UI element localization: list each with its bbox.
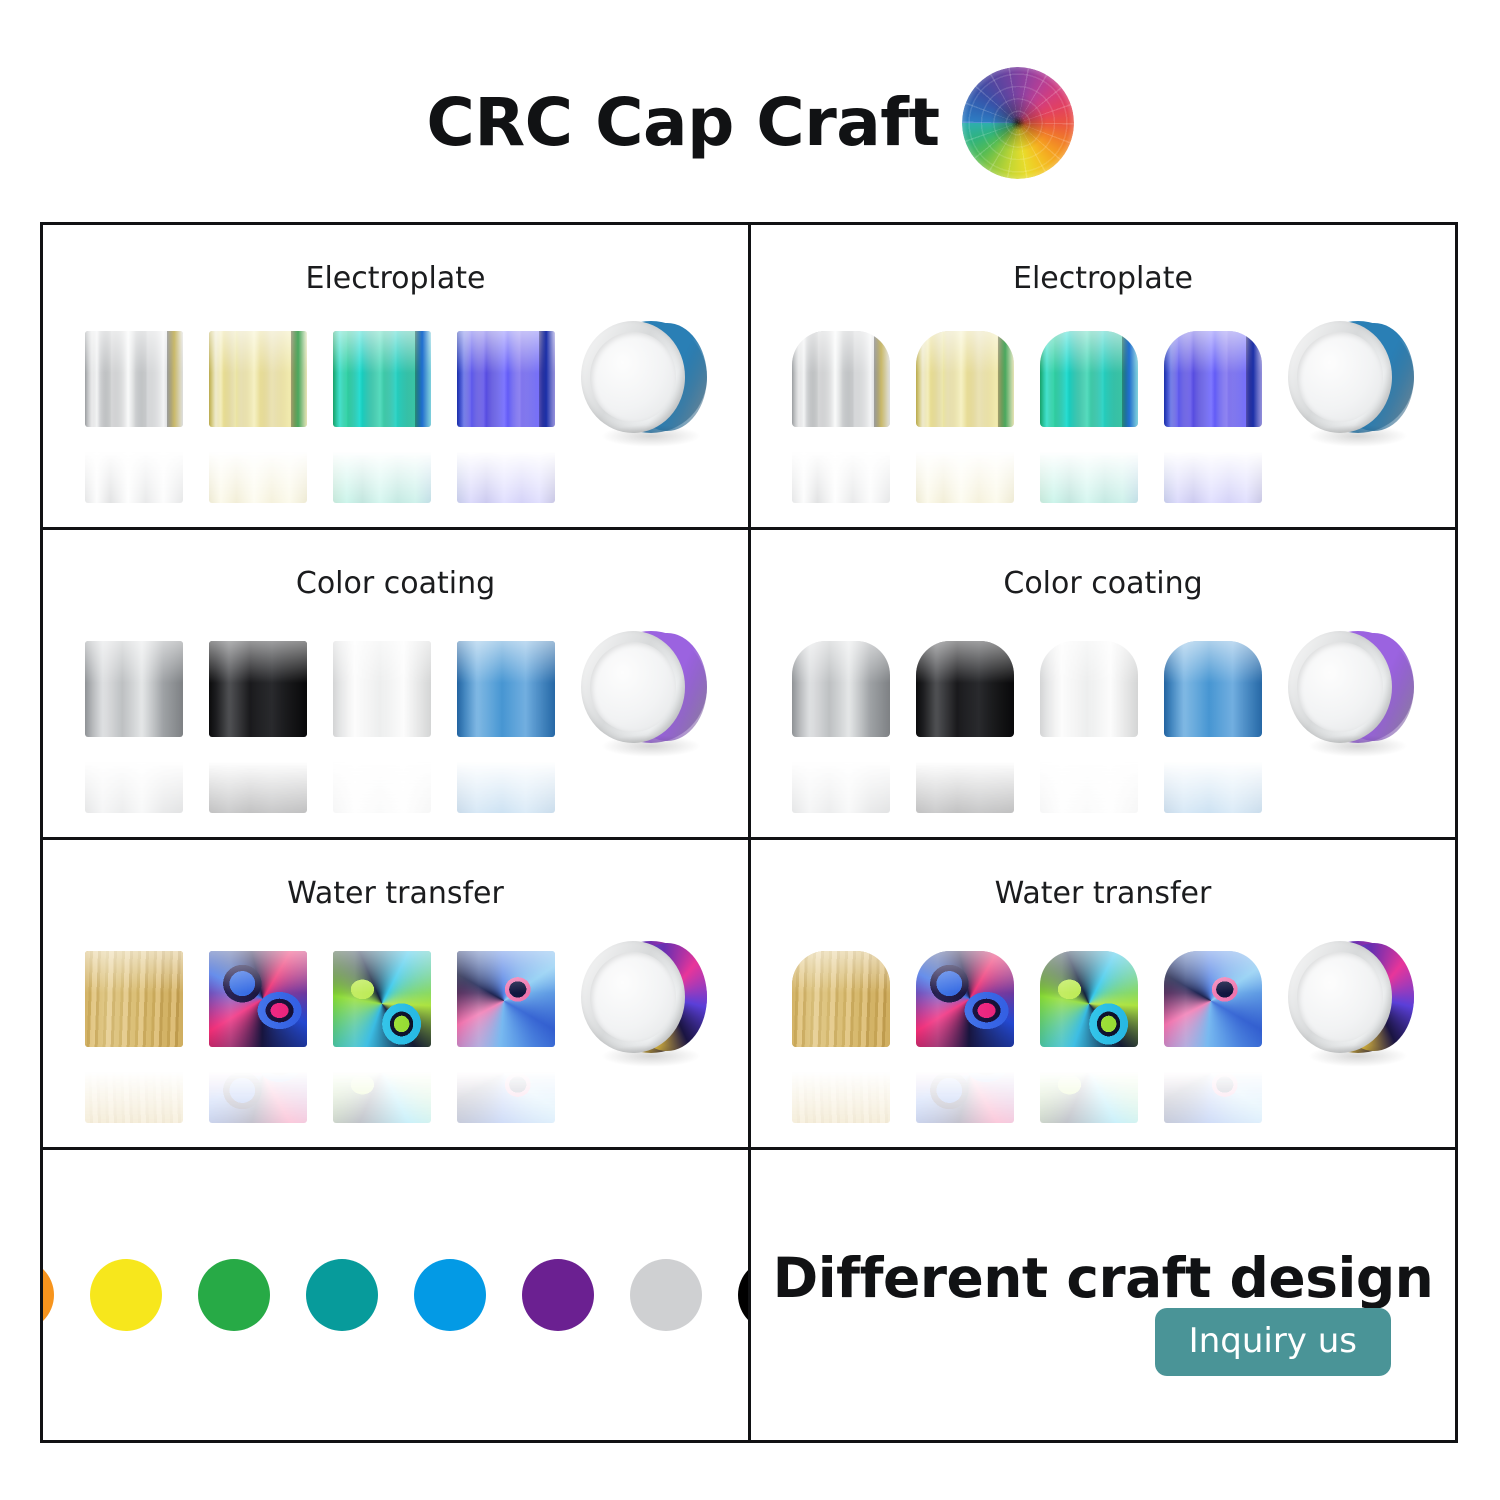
cap-gold: [916, 317, 1014, 503]
color-swatch-orange[interactable]: [43, 1259, 54, 1331]
cap-body: [916, 951, 1014, 1047]
page-title: CRC Cap Craft: [426, 90, 939, 156]
cap-edge-accent: [1122, 331, 1138, 427]
open-cap-liner: [590, 332, 676, 422]
color-wheel-icon: [962, 67, 1074, 179]
cap-reflection: [1040, 1051, 1138, 1123]
panel-label: Electroplate: [43, 261, 748, 296]
cap-reflection: [1164, 1051, 1262, 1123]
color-swatch-yellow[interactable]: [90, 1259, 162, 1331]
inquiry-us-button[interactable]: Inquiry us: [1155, 1308, 1391, 1376]
cap-body: [1040, 951, 1138, 1047]
cap-body: [916, 641, 1014, 737]
open-cap-liner: [590, 642, 676, 732]
cap-body: [333, 951, 431, 1047]
open-cap-shadow: [1308, 735, 1408, 757]
panel-electroplate-dome: Electroplate: [751, 225, 1455, 530]
cap-teal-green: [333, 317, 431, 503]
cap-reflection: [85, 1051, 183, 1123]
open-cap-liner: [1297, 332, 1383, 422]
panel-electroplate-cylinder: Electroplate: [43, 225, 751, 530]
cap-edge-accent: [167, 331, 183, 427]
cap-highlight: [916, 641, 1014, 683]
cap-edge-accent: [1246, 331, 1262, 427]
cap-highlight: [1164, 951, 1262, 993]
cap-reflection: [792, 741, 890, 813]
cap-edge-accent: [415, 331, 431, 427]
cap-blue-pink-swirl: [1164, 937, 1262, 1123]
open-cap-liner: [1297, 642, 1383, 732]
cap-highlight: [1164, 641, 1262, 683]
cap-body: [209, 641, 307, 737]
open-cap-body: [1288, 941, 1414, 1053]
cap-highlight: [792, 641, 890, 683]
panel-cta: Different craft design Inquiry us: [751, 1150, 1455, 1440]
cta-block: Different craft design Inquiry us: [751, 1150, 1455, 1440]
cap-reflection: [792, 1051, 890, 1123]
cap-white: [333, 627, 431, 813]
cap-edge-accent: [998, 331, 1014, 427]
cap-reflection: [209, 1051, 307, 1123]
cap-reflection: [1040, 431, 1138, 503]
open-cap-shadow: [1308, 425, 1408, 447]
cap-edge-accent: [874, 331, 890, 427]
cap-pink-blue-swirl: [916, 937, 1014, 1123]
cap-body: [209, 331, 307, 427]
cap-body: [1164, 951, 1262, 1047]
cap-body: [457, 951, 555, 1047]
cap-highlight: [333, 641, 431, 683]
panel-label: Color coating: [43, 566, 748, 601]
open-cap-body: [1288, 321, 1414, 433]
cap-body: [1040, 331, 1138, 427]
panel-color-swatches: [43, 1150, 751, 1440]
open-cap-shadow: [1308, 1045, 1408, 1067]
cap-reflection: [1164, 741, 1262, 813]
color-swatch-purple[interactable]: [522, 1259, 594, 1331]
color-wheel-rings: [962, 67, 1074, 179]
cap-reflection: [916, 431, 1014, 503]
cap-row: [43, 307, 748, 503]
open-cap-liner: [1297, 952, 1383, 1042]
cap-black: [916, 627, 1014, 813]
cap-highlight: [457, 951, 555, 993]
open-cap-body: [1288, 631, 1414, 743]
cap-edge-accent: [539, 331, 555, 427]
cap-reflection: [1040, 741, 1138, 813]
cap-reflection: [85, 741, 183, 813]
cap-matte-silver: [85, 627, 183, 813]
cta-title: Different craft design: [751, 1246, 1455, 1310]
craft-grid: Electroplate Electroplate Color coating …: [40, 222, 1458, 1443]
cap-body: [1164, 331, 1262, 427]
panel-color-coating-dome: Color coating: [751, 530, 1455, 840]
cap-silver: [85, 317, 183, 503]
cap-blue-violet: [1164, 317, 1262, 503]
cap-body: [209, 951, 307, 1047]
color-swatch-blue[interactable]: [414, 1259, 486, 1331]
cap-body: [1040, 641, 1138, 737]
cap-body: [85, 641, 183, 737]
cap-matte-silver: [792, 627, 890, 813]
cap-highlight: [792, 951, 890, 993]
open-cap-shadow: [601, 425, 701, 447]
open-cap-body: [581, 941, 707, 1053]
open-cap-body: [581, 631, 707, 743]
cap-reflection: [916, 1051, 1014, 1123]
cap-purple-open-cap: [581, 627, 707, 813]
cap-reflection: [333, 431, 431, 503]
open-cap-liner: [590, 952, 676, 1042]
cap-reflection: [792, 431, 890, 503]
cap-black: [209, 627, 307, 813]
cap-reflection: [209, 741, 307, 813]
cap-body: [333, 641, 431, 737]
infographic-page: CRC Cap Craft Electroplate Electroplate …: [0, 0, 1500, 1500]
cap-highlight: [457, 641, 555, 683]
cap-body: [1164, 641, 1262, 737]
open-cap-shadow: [601, 735, 701, 757]
cap-blue: [1164, 627, 1262, 813]
cap-highlight: [209, 641, 307, 683]
cap-body: [333, 331, 431, 427]
panel-water-transfer-dome: Water transfer: [751, 840, 1455, 1150]
cap-silver: [792, 317, 890, 503]
cap-blue-open-cap: [1288, 317, 1414, 503]
cap-highlight: [916, 951, 1014, 993]
cap-row: [43, 617, 748, 813]
cap-blue-open-cap: [581, 317, 707, 503]
cap-cyan-lime-swirl: [333, 937, 431, 1123]
panel-label: Color coating: [751, 566, 1455, 601]
cap-reflection: [916, 741, 1014, 813]
cap-reflection: [457, 431, 555, 503]
cap-reflection: [457, 741, 555, 813]
cap-reflection: [1164, 431, 1262, 503]
cap-blue-pink-swirl: [457, 937, 555, 1123]
open-cap-body: [581, 321, 707, 433]
cap-highlight: [209, 951, 307, 993]
panel-water-transfer-cylinder: Water transfer: [43, 840, 751, 1150]
cap-highlight: [1040, 641, 1138, 683]
panel-label: Water transfer: [43, 876, 748, 911]
cap-teal-green: [1040, 317, 1138, 503]
panel-color-coating-cylinder: Color coating: [43, 530, 751, 840]
cap-body: [457, 641, 555, 737]
cap-highlight: [1040, 951, 1138, 993]
color-swatch-green[interactable]: [198, 1259, 270, 1331]
cap-body: [792, 951, 890, 1047]
cap-highlight: [333, 951, 431, 993]
panel-label: Electroplate: [751, 261, 1455, 296]
cap-purple-open-cap: [1288, 627, 1414, 813]
cap-patterned-open-cap: [1288, 937, 1414, 1123]
cap-blue: [457, 627, 555, 813]
open-cap-shadow: [601, 1045, 701, 1067]
cap-body: [792, 331, 890, 427]
swatch-row: [43, 1259, 748, 1331]
cap-row: [43, 927, 748, 1123]
cap-row: [751, 307, 1455, 503]
cap-edge-accent: [291, 331, 307, 427]
cap-body: [85, 331, 183, 427]
cap-white: [1040, 627, 1138, 813]
cap-reflection: [333, 1051, 431, 1123]
cap-wood-grain: [85, 937, 183, 1123]
cap-wood-grain: [792, 937, 890, 1123]
cap-body: [916, 331, 1014, 427]
panel-label: Water transfer: [751, 876, 1455, 911]
color-swatch-light-gray[interactable]: [630, 1259, 702, 1331]
cap-reflection: [457, 1051, 555, 1123]
cap-reflection: [333, 741, 431, 813]
header: CRC Cap Craft: [0, 58, 1500, 188]
cap-gold: [209, 317, 307, 503]
cap-row: [751, 617, 1455, 813]
cap-highlight: [85, 951, 183, 993]
cap-pink-blue-swirl: [209, 937, 307, 1123]
cap-patterned-open-cap: [581, 937, 707, 1123]
cap-body: [792, 641, 890, 737]
cap-cyan-lime-swirl: [1040, 937, 1138, 1123]
cap-highlight: [85, 641, 183, 683]
cap-reflection: [209, 431, 307, 503]
color-swatch-teal[interactable]: [306, 1259, 378, 1331]
color-swatch-black[interactable]: [738, 1259, 752, 1331]
cap-blue-violet: [457, 317, 555, 503]
cap-body: [85, 951, 183, 1047]
cap-reflection: [85, 431, 183, 503]
cap-row: [751, 927, 1455, 1123]
cap-body: [457, 331, 555, 427]
